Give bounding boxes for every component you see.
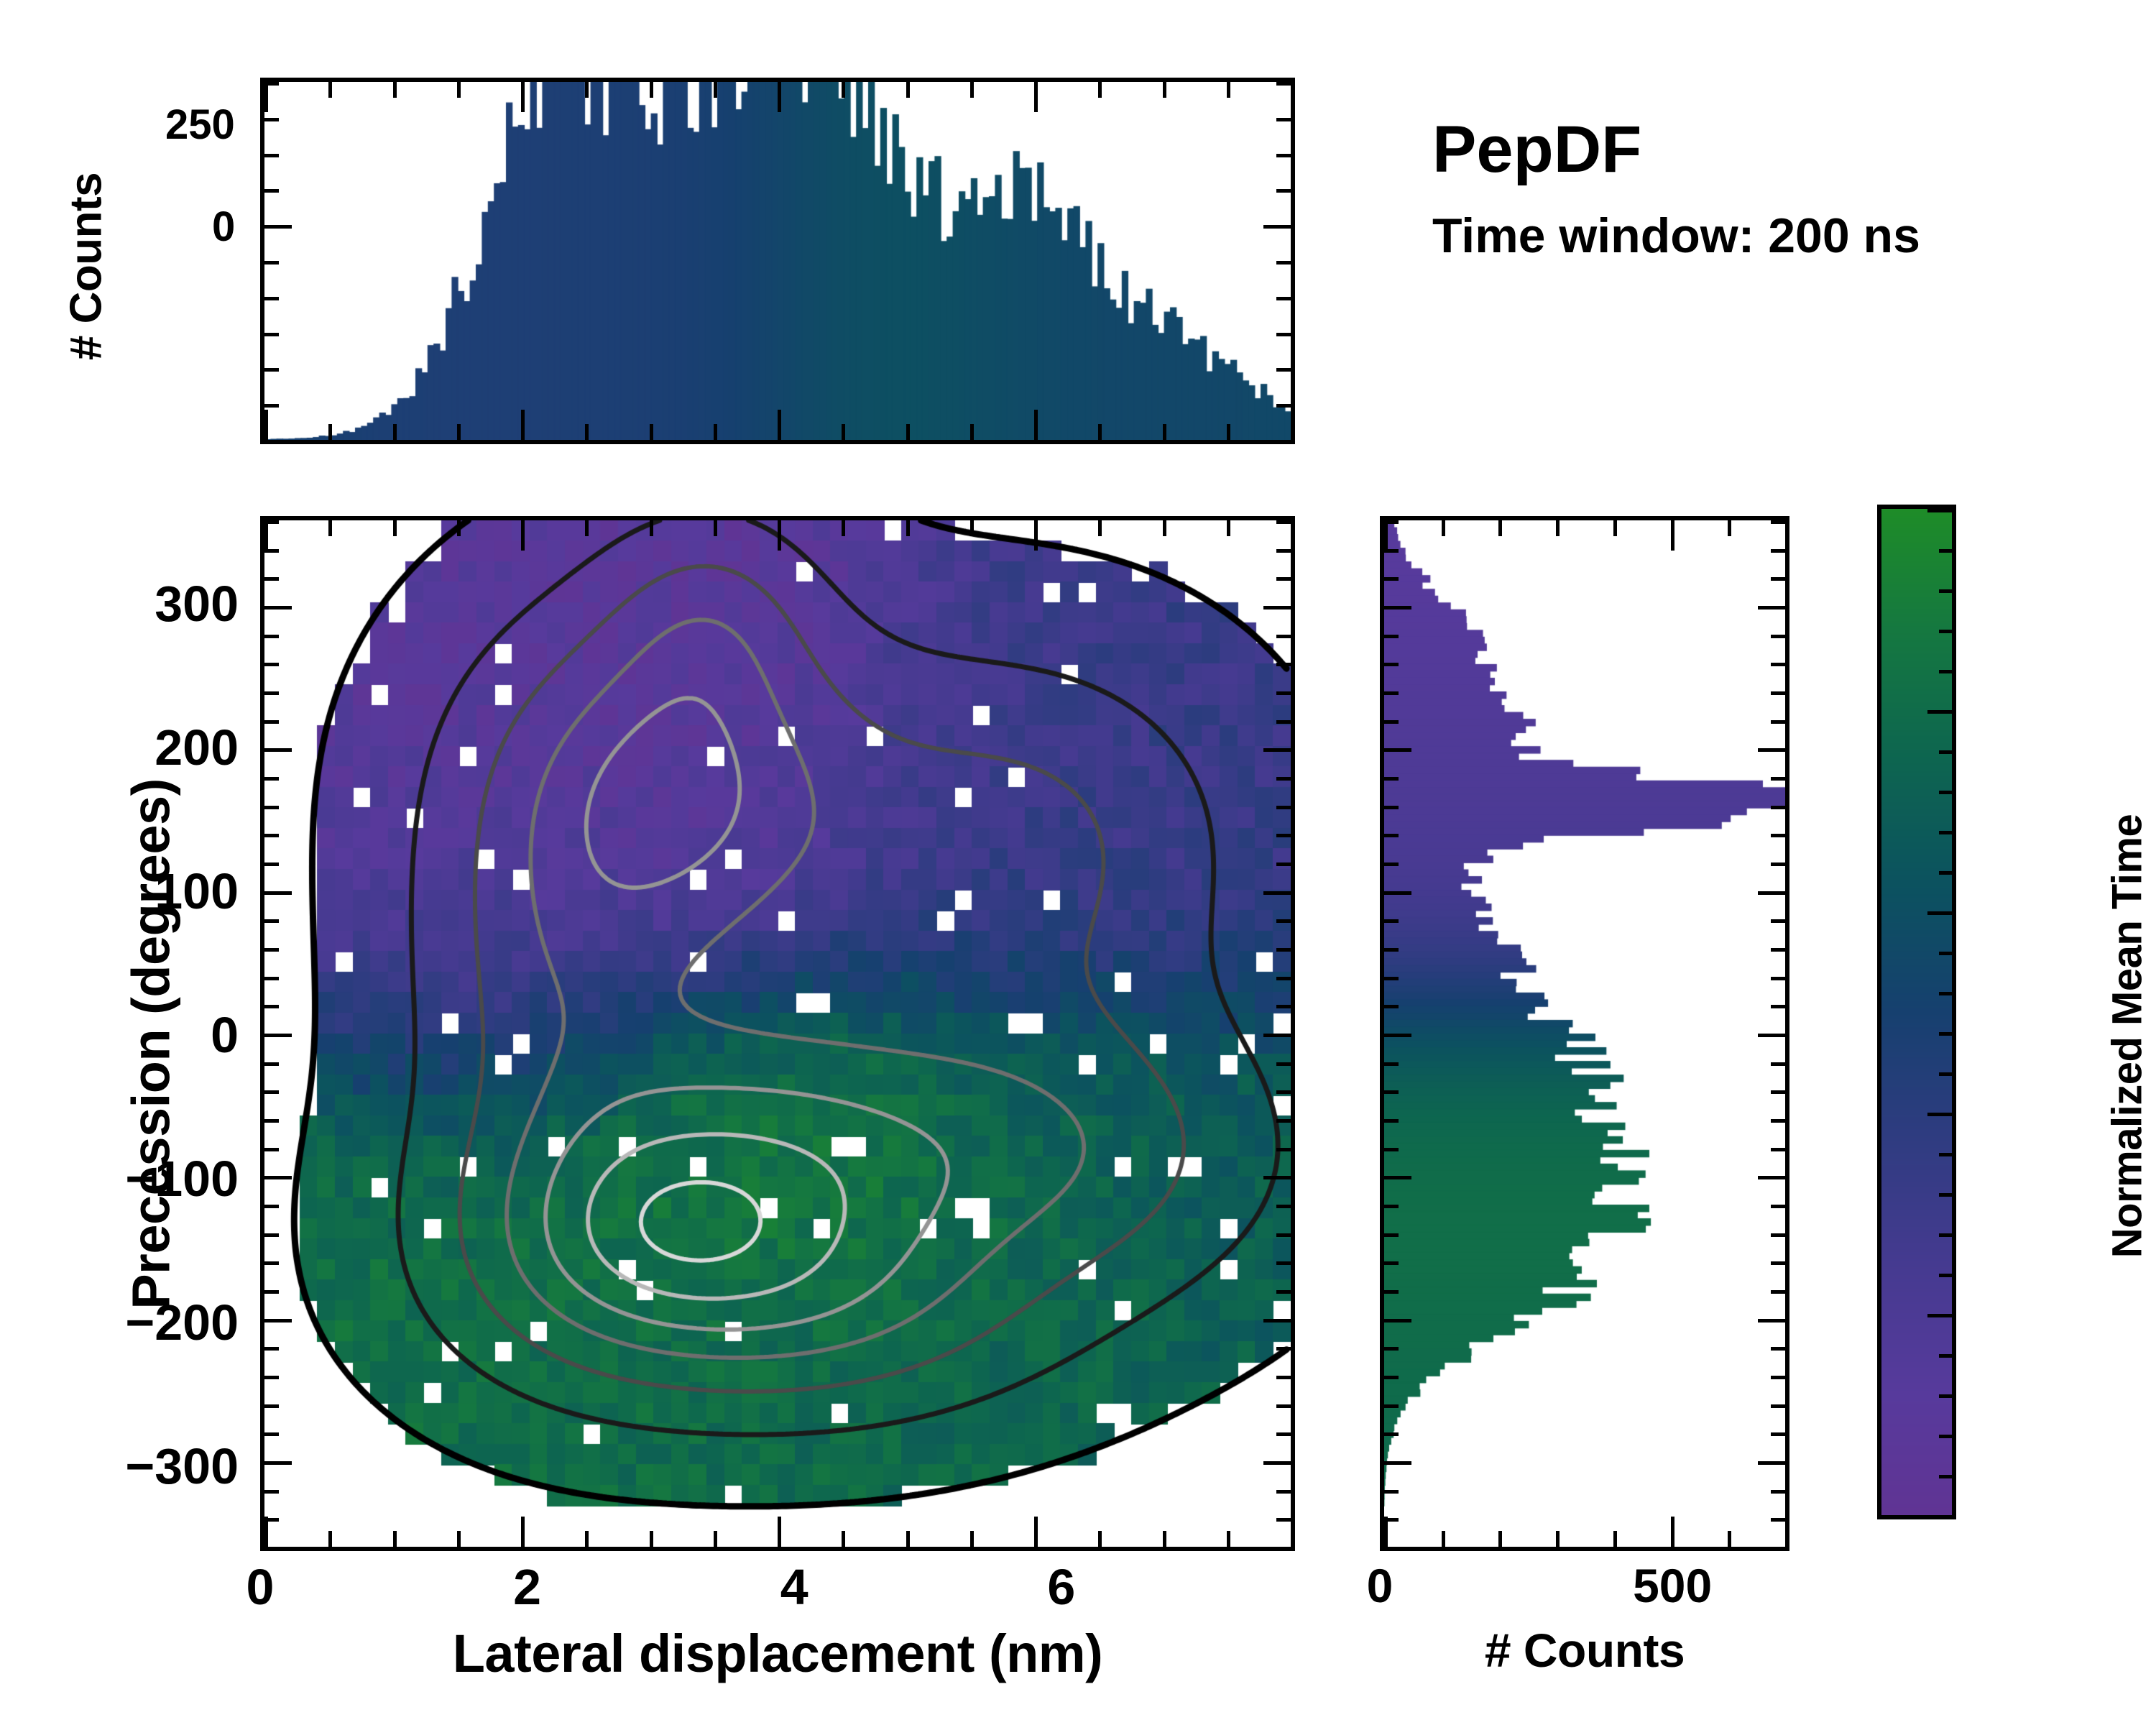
axis-tick: [1263, 225, 1291, 229]
axis-tick: [1276, 1233, 1291, 1237]
axis-tick: [1276, 549, 1291, 553]
axis-tick: [585, 82, 589, 98]
axis-tick: [1098, 82, 1102, 98]
axis-tick: [1939, 1032, 1952, 1036]
axis-tick: [264, 1461, 292, 1465]
axis-tick: [393, 82, 397, 98]
axis-tick: [264, 297, 279, 300]
axis-tick: [842, 82, 845, 98]
page-subtitle: Time window: 200 ns: [1432, 207, 1920, 264]
top-histogram-ytick-0: 0: [212, 203, 235, 251]
axis-tick: [1384, 891, 1411, 895]
axis-tick: [1384, 1518, 1399, 1522]
axis-tick: [1613, 1531, 1617, 1547]
axis-tick: [1498, 1531, 1502, 1547]
axis-tick: [1384, 977, 1399, 980]
axis-tick: [264, 549, 279, 553]
axis-tick: [1939, 952, 1952, 955]
axis-tick: [1939, 549, 1952, 553]
axis-tick: [1384, 806, 1399, 809]
axis-tick: [1771, 549, 1785, 553]
axis-tick: [970, 82, 974, 98]
axis-tick: [1276, 520, 1291, 524]
axis-tick: [1771, 1518, 1785, 1522]
axis-tick: [970, 1531, 974, 1547]
axis-tick: [1771, 1261, 1785, 1265]
axis-tick: [1034, 520, 1038, 551]
axis-tick: [1384, 862, 1399, 866]
axis-tick: [1771, 977, 1785, 980]
axis-tick: [1939, 871, 1952, 875]
axis-tick: [1276, 154, 1291, 157]
axis-tick: [970, 520, 974, 536]
axis-tick: [264, 1119, 279, 1123]
axis-tick: [1276, 82, 1291, 86]
axis-tick: [264, 891, 292, 895]
axis-tick: [264, 748, 292, 752]
axis-tick: [1384, 1005, 1399, 1008]
axis-tick: [1384, 1062, 1399, 1066]
axis-tick: [1276, 635, 1291, 638]
axis-tick: [1939, 1072, 1952, 1076]
axis-tick: [585, 1531, 589, 1547]
axis-tick: [393, 520, 397, 536]
axis-tick: [264, 333, 279, 336]
axis-tick: [264, 635, 279, 638]
axis-tick: [1671, 1517, 1674, 1547]
axis-tick: [1498, 520, 1502, 536]
axis-tick: [1276, 834, 1291, 837]
axis-tick: [1276, 404, 1291, 408]
axis-tick: [264, 663, 279, 666]
axis-tick: [457, 520, 461, 536]
axis-tick: [264, 948, 279, 952]
axis-tick: [264, 261, 279, 264]
axis-tick: [1227, 1531, 1230, 1547]
axis-tick: [264, 1376, 279, 1379]
axis-tick: [1728, 1531, 1731, 1547]
axis-tick: [264, 720, 279, 724]
axis-tick: [585, 424, 589, 440]
axis-tick: [328, 520, 332, 536]
axis-tick: [1771, 1062, 1785, 1066]
main-xtick-2: 2: [456, 1558, 599, 1616]
axis-tick: [1939, 630, 1952, 633]
right-histogram-canvas: [1384, 520, 1785, 1547]
axis-tick: [1771, 1005, 1785, 1008]
main-xtick-4: 4: [722, 1558, 866, 1616]
axis-tick: [264, 1547, 279, 1550]
axis-tick: [1771, 1347, 1785, 1351]
main-plot-xlabel: Lateral displacement (nm): [260, 1623, 1295, 1684]
axis-tick: [1276, 691, 1291, 695]
axis-tick: [650, 1531, 653, 1547]
axis-tick: [1939, 1153, 1952, 1156]
axis-tick: [521, 520, 525, 551]
axis-tick: [1927, 911, 1952, 915]
axis-tick: [1384, 1432, 1399, 1436]
axis-tick: [1276, 118, 1291, 121]
axis-tick: [264, 154, 279, 157]
main-ytick-300: 300: [9, 575, 239, 632]
axis-tick: [1276, 1404, 1291, 1408]
axis-tick: [457, 82, 461, 98]
axis-tick: [650, 520, 653, 536]
axis-tick: [1276, 720, 1291, 724]
main-xtick-6: 6: [990, 1558, 1133, 1616]
right-hist-xtick-0: 0: [1308, 1558, 1452, 1613]
axis-tick: [264, 410, 268, 440]
axis-tick: [1384, 1205, 1399, 1208]
right-histogram-panel: [1380, 516, 1789, 1551]
axis-tick: [1384, 1319, 1411, 1322]
axis-tick: [1939, 1193, 1952, 1197]
axis-tick: [1384, 1404, 1399, 1408]
axis-tick: [521, 82, 525, 112]
axis-tick: [1771, 1432, 1785, 1436]
axis-tick: [1771, 1205, 1785, 1208]
axis-tick: [1034, 1517, 1038, 1547]
axis-tick: [1263, 748, 1291, 752]
axis-tick: [1276, 1490, 1291, 1494]
axis-tick: [1939, 1354, 1952, 1358]
axis-tick: [1384, 577, 1399, 581]
axis-tick: [1927, 1314, 1952, 1317]
axis-tick: [264, 1319, 292, 1322]
axis-tick: [264, 977, 279, 980]
main-ytick-0: 0: [9, 1006, 239, 1064]
axis-tick: [1556, 1531, 1560, 1547]
top-histogram-ylabel: # Counts: [61, 137, 112, 396]
axis-tick: [1671, 520, 1674, 551]
axis-tick: [1442, 1531, 1445, 1547]
axis-tick: [264, 82, 268, 112]
axis-tick: [1276, 1290, 1291, 1294]
axis-tick: [1276, 663, 1291, 666]
axis-tick: [1384, 1034, 1411, 1037]
axis-tick: [1771, 520, 1785, 524]
axis-tick: [264, 777, 279, 781]
axis-tick: [1771, 635, 1785, 638]
axis-tick: [264, 82, 279, 86]
axis-tick: [1227, 82, 1230, 98]
colorbar: [1877, 505, 1956, 1519]
axis-tick: [1771, 777, 1785, 781]
axis-tick: [1276, 1376, 1291, 1379]
axis-tick: [264, 1432, 279, 1436]
axis-tick: [1098, 424, 1102, 440]
axis-tick: [264, 368, 279, 372]
axis-tick: [1384, 834, 1399, 837]
axis-tick: [650, 82, 653, 98]
axis-tick: [1276, 1518, 1291, 1522]
axis-tick: [457, 1531, 461, 1547]
axis-tick: [842, 520, 845, 536]
axis-tick: [1276, 919, 1291, 923]
axis-tick: [1227, 424, 1230, 440]
axis-tick: [1384, 1119, 1399, 1123]
axis-tick: [264, 1005, 279, 1008]
axis-tick: [1384, 1290, 1399, 1294]
axis-tick: [521, 410, 525, 440]
axis-tick: [1771, 806, 1785, 809]
axis-tick: [264, 404, 279, 408]
axis-tick: [264, 1518, 279, 1522]
axis-tick: [1384, 1547, 1399, 1550]
axis-tick: [1291, 520, 1294, 551]
axis-tick: [393, 424, 397, 440]
axis-tick: [264, 834, 279, 837]
axis-tick: [1276, 261, 1291, 264]
axis-tick: [1276, 1062, 1291, 1066]
axis-tick: [1276, 1005, 1291, 1008]
axis-tick: [328, 424, 332, 440]
axis-tick: [521, 1517, 525, 1547]
axis-tick: [1728, 520, 1731, 536]
axis-tick: [1263, 1319, 1291, 1322]
axis-tick: [264, 1347, 279, 1351]
axis-tick: [1939, 831, 1952, 834]
axis-tick: [1939, 1274, 1952, 1277]
axis-tick: [906, 82, 910, 98]
axis-tick: [1758, 891, 1785, 895]
axis-tick: [264, 189, 279, 193]
axis-tick: [778, 520, 781, 551]
axis-tick: [264, 1148, 279, 1151]
title-block: PepDF Time window: 200 ns: [1432, 114, 1920, 264]
axis-tick: [1276, 333, 1291, 336]
axis-tick: [1758, 1034, 1785, 1037]
axis-tick: [1771, 1547, 1785, 1550]
axis-tick: [1384, 720, 1399, 724]
axis-tick: [264, 806, 279, 809]
main-ytick-100: 100: [9, 862, 239, 920]
axis-tick: [264, 1034, 292, 1037]
axis-tick: [1939, 1475, 1952, 1478]
axis-tick: [1556, 520, 1560, 536]
axis-tick: [1276, 806, 1291, 809]
axis-tick: [264, 919, 279, 923]
axis-tick: [1291, 82, 1294, 112]
axis-tick: [1384, 777, 1399, 781]
axis-tick: [1276, 189, 1291, 193]
axis-tick: [778, 410, 781, 440]
axis-tick: [1785, 520, 1789, 536]
axis-tick: [1384, 1148, 1399, 1151]
axis-tick: [1384, 1461, 1411, 1465]
main-ytick--100: −100: [9, 1150, 239, 1207]
axis-tick: [1442, 520, 1445, 536]
axis-tick: [1276, 1432, 1291, 1436]
axis-tick: [1384, 520, 1399, 524]
colorbar-label: Normalized Mean Time: [2104, 713, 2152, 1360]
axis-tick: [1384, 919, 1399, 923]
axis-tick: [1613, 520, 1617, 536]
axis-tick: [1163, 1531, 1166, 1547]
axis-tick: [264, 1404, 279, 1408]
axis-tick: [1384, 1347, 1399, 1351]
axis-tick: [1771, 834, 1785, 837]
axis-tick: [1939, 992, 1952, 995]
axis-tick: [1384, 549, 1399, 553]
axis-tick: [1263, 606, 1291, 609]
main-heatmap-canvas: [264, 520, 1291, 1547]
axis-tick: [1276, 1261, 1291, 1265]
axis-tick: [714, 82, 717, 98]
axis-tick: [1939, 1394, 1952, 1398]
axis-tick: [1758, 1176, 1785, 1179]
axis-tick: [264, 862, 279, 866]
top-histogram-panel: [260, 78, 1295, 444]
axis-tick: [1384, 948, 1399, 952]
axis-tick: [1939, 670, 1952, 673]
axis-tick: [1384, 606, 1411, 609]
axis-tick: [264, 1233, 279, 1237]
colorbar-gradient: [1881, 509, 1952, 1515]
axis-tick: [1276, 1347, 1291, 1351]
axis-tick: [1771, 720, 1785, 724]
axis-tick: [778, 1517, 781, 1547]
axis-tick: [1771, 948, 1785, 952]
main-xtick-0: 0: [188, 1558, 332, 1616]
axis-tick: [1276, 297, 1291, 300]
page-title: PepDF: [1432, 114, 1920, 185]
axis-tick: [1384, 663, 1399, 666]
axis-tick: [1291, 410, 1294, 440]
axis-tick: [264, 577, 279, 581]
axis-tick: [264, 1261, 279, 1265]
axis-tick: [1163, 424, 1166, 440]
axis-tick: [970, 424, 974, 440]
axis-tick: [1927, 710, 1952, 714]
axis-tick: [1771, 862, 1785, 866]
axis-tick: [457, 424, 461, 440]
axis-tick: [1034, 82, 1038, 112]
axis-tick: [1276, 1547, 1291, 1550]
axis-tick: [906, 1531, 910, 1547]
axis-tick: [1276, 368, 1291, 372]
axis-tick: [264, 440, 292, 443]
axis-tick: [1276, 977, 1291, 980]
axis-tick: [1263, 1461, 1291, 1465]
axis-tick: [714, 520, 717, 536]
axis-tick: [1034, 410, 1038, 440]
axis-tick: [1276, 1205, 1291, 1208]
axis-tick: [1771, 691, 1785, 695]
main-ytick--200: −200: [9, 1294, 239, 1351]
axis-tick: [1276, 1119, 1291, 1123]
axis-tick: [1263, 440, 1291, 443]
axis-tick: [328, 82, 332, 98]
axis-tick: [1384, 1490, 1399, 1494]
axis-tick: [264, 1205, 279, 1208]
axis-tick: [1276, 1148, 1291, 1151]
axis-tick: [1785, 1531, 1789, 1547]
right-histogram-xlabel: # Counts: [1380, 1623, 1789, 1678]
axis-tick: [714, 424, 717, 440]
axis-tick: [1384, 520, 1388, 551]
axis-tick: [1939, 589, 1952, 593]
axis-tick: [1758, 1319, 1785, 1322]
axis-tick: [1771, 1090, 1785, 1094]
axis-tick: [778, 82, 781, 112]
axis-tick: [1276, 777, 1291, 781]
axis-tick: [1758, 748, 1785, 752]
axis-tick: [906, 520, 910, 536]
axis-tick: [1927, 1113, 1952, 1116]
axis-tick: [264, 118, 279, 121]
axis-tick: [1276, 948, 1291, 952]
axis-tick: [906, 424, 910, 440]
axis-tick: [1276, 862, 1291, 866]
axis-tick: [264, 691, 279, 695]
axis-tick: [264, 1062, 279, 1066]
axis-tick: [1771, 1119, 1785, 1123]
axis-tick: [1771, 1404, 1785, 1408]
axis-tick: [1927, 1515, 1952, 1519]
axis-tick: [1771, 1376, 1785, 1379]
axis-tick: [264, 520, 268, 551]
axis-tick: [1263, 891, 1291, 895]
axis-tick: [842, 424, 845, 440]
axis-tick: [1939, 1233, 1952, 1237]
axis-tick: [1098, 1531, 1102, 1547]
axis-tick: [1384, 1233, 1399, 1237]
axis-tick: [1227, 520, 1230, 536]
axis-tick: [264, 520, 279, 524]
axis-tick: [1384, 1176, 1411, 1179]
axis-tick: [1384, 1376, 1399, 1379]
axis-tick: [1163, 82, 1166, 98]
axis-tick: [328, 1531, 332, 1547]
axis-tick: [1384, 1090, 1399, 1094]
axis-tick: [1771, 1233, 1785, 1237]
axis-tick: [714, 1531, 717, 1547]
axis-tick: [1384, 635, 1399, 638]
axis-tick: [264, 225, 292, 229]
axis-tick: [1098, 520, 1102, 536]
top-histogram-canvas: [264, 82, 1291, 440]
axis-tick: [1263, 1034, 1291, 1037]
axis-tick: [1384, 1261, 1399, 1265]
main-ytick--300: −300: [9, 1437, 239, 1495]
main-heatmap-panel: [260, 516, 1295, 1551]
axis-tick: [1263, 1176, 1291, 1179]
axis-tick: [842, 1531, 845, 1547]
axis-tick: [1276, 1090, 1291, 1094]
axis-tick: [264, 1290, 279, 1294]
axis-tick: [1939, 1435, 1952, 1438]
axis-tick: [1927, 509, 1952, 512]
axis-tick: [1291, 1517, 1294, 1547]
axis-tick: [1771, 919, 1785, 923]
axis-tick: [1771, 1148, 1785, 1151]
axis-tick: [264, 1490, 279, 1494]
axis-tick: [1939, 750, 1952, 754]
axis-tick: [264, 606, 292, 609]
axis-tick: [264, 1090, 279, 1094]
axis-tick: [650, 424, 653, 440]
axis-tick: [1276, 577, 1291, 581]
axis-tick: [1758, 1461, 1785, 1465]
axis-tick: [1384, 691, 1399, 695]
axis-tick: [1939, 791, 1952, 794]
top-histogram-ytick-250: 250: [165, 101, 235, 149]
axis-tick: [1771, 1490, 1785, 1494]
axis-tick: [1771, 663, 1785, 666]
right-hist-xtick-500: 500: [1600, 1558, 1744, 1613]
axis-tick: [1384, 748, 1411, 752]
